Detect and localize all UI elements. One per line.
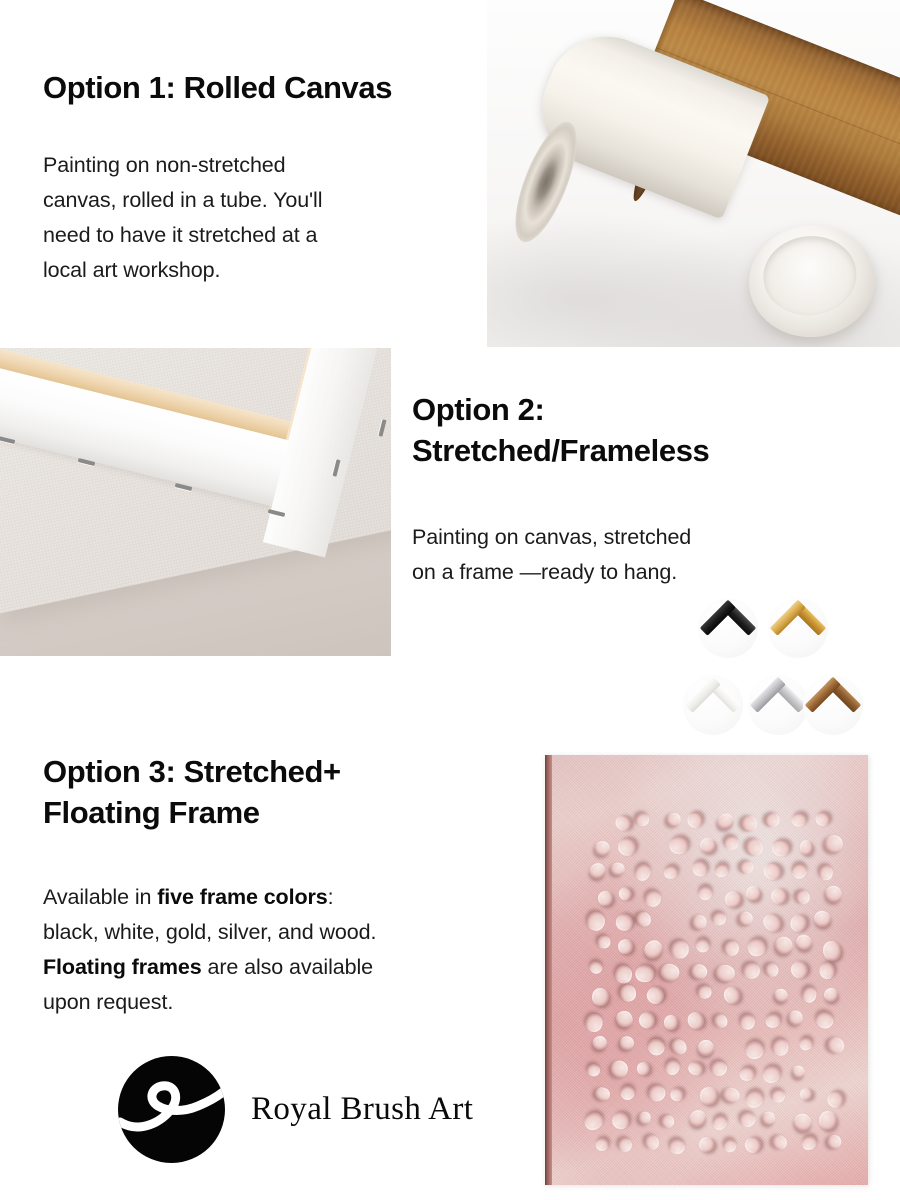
brand-name-text: Royal Brush Art	[251, 1091, 473, 1128]
silver-frame-swatch	[748, 675, 808, 735]
black-frame-swatch	[698, 598, 758, 658]
royal-brush-art-swirl-mark-icon	[118, 1056, 225, 1163]
wood-frame-swatch	[803, 675, 863, 735]
white-frame-swatch	[683, 675, 743, 735]
painting-texture-dot	[667, 813, 681, 827]
painting-texture-dot	[746, 885, 761, 900]
emphasis-text: Floating frames	[43, 955, 202, 979]
emphasis-text: five frame colors	[157, 885, 327, 909]
painting-texture-dot	[819, 1111, 837, 1130]
pink-textured-painting-image	[545, 755, 868, 1185]
canvas-options-infographic: Option 1: Rolled Canvas Painting on non-…	[0, 0, 900, 1200]
rolled-canvas-tube-image	[487, 0, 900, 347]
option-3-title: Option 3: Stretched+ Floating Frame	[43, 752, 493, 834]
painting-texture-dot	[712, 912, 726, 926]
gold-frame-swatch	[768, 598, 828, 658]
option-2-body: Painting on canvas, stretched on a frame…	[412, 520, 832, 590]
painting-texture-dot	[824, 835, 842, 853]
body-text: Available in	[43, 885, 157, 909]
painting-texture-dot	[700, 838, 716, 853]
painting-texture-dot	[670, 1087, 683, 1101]
stretched-canvas-corner-image	[0, 348, 391, 656]
option-1-body: Painting on non-stretched canvas, rolled…	[43, 148, 443, 288]
brand-logo: Royal Brush Art	[118, 1053, 488, 1165]
painting-side-edge	[545, 755, 552, 1185]
option-2-title: Option 2: Stretched/Frameless	[412, 390, 842, 472]
option-3-body: Available in five frame colors: black, w…	[43, 880, 513, 1020]
option-1-title: Option 1: Rolled Canvas	[43, 68, 493, 109]
